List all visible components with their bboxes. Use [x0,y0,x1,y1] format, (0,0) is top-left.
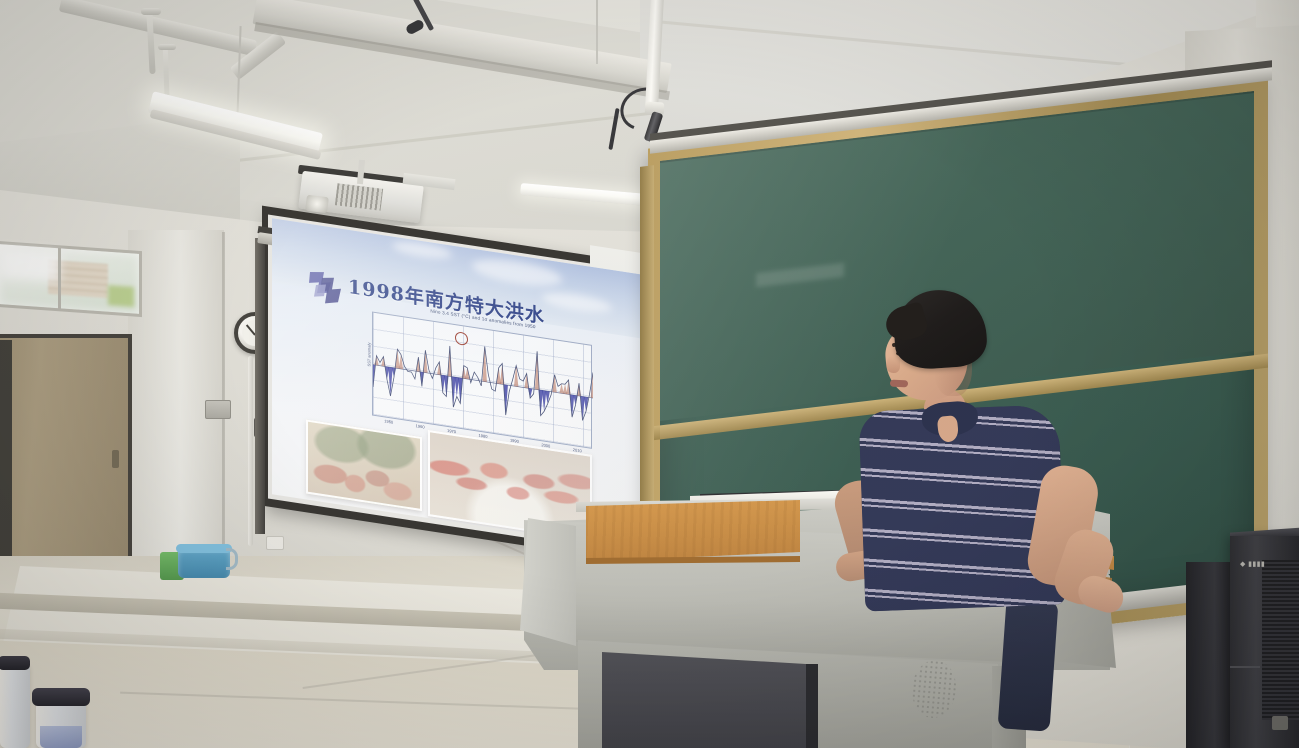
window-view-foliage [108,285,134,307]
chart-x-tick: 1950 [384,418,393,424]
projected-slide: 1998年南方特大洪水 Nino 3.4 SST (°C) and 1σ ano… [272,218,650,551]
presenter-polo-shirt [859,405,1066,612]
speaker-panel-seam [1230,666,1260,668]
presenter-mouth [890,380,908,388]
pipe-cap [141,8,161,15]
door-handle[interactable] [112,450,119,468]
hanger-wire-2 [596,0,598,64]
presenter-nose [886,356,900,373]
classroom-photo-scene: 1998年南方特大洪水 Nino 3.4 SST (°C) and 1σ ano… [0,0,1299,748]
water-bottle-secondary[interactable] [0,664,30,748]
lectern-base-shadow-strip [806,664,818,748]
equipment-rack [1186,562,1234,748]
wall-socket-small[interactable] [266,536,284,550]
chart-x-tick: 1960 [416,423,425,429]
speaker-grill [1262,560,1299,720]
window-daylight-glare [0,248,60,282]
presenter [838,290,1138,710]
lectern-base-dark-panel [602,652,806,748]
wall-cable-conduit [248,356,253,546]
window-mullion [58,248,61,310]
institute-logo [308,268,342,309]
pipe-cap-2 [158,44,176,50]
chart-series-path [373,313,593,450]
presenter-shirt-stripes [859,405,1066,612]
presenter-trousers [998,598,1059,731]
lectern-wood-panel [586,500,800,562]
screen-side-edge [255,238,265,534]
speaker-brand-label: ◆ ▮▮▮▮ [1240,560,1292,569]
blue-basin-rim [176,544,232,553]
chart-y-axis-label: SST anomaly [366,342,371,367]
water-bottle-cap-secondary [0,656,30,670]
wall-switch-plate[interactable] [205,400,231,419]
speaker-badge [1272,716,1288,730]
water-bottle-contents [40,726,82,748]
slide-photo-flood-rescue [306,419,422,511]
projector-lens [305,195,329,214]
water-bottle-cap [32,688,90,706]
